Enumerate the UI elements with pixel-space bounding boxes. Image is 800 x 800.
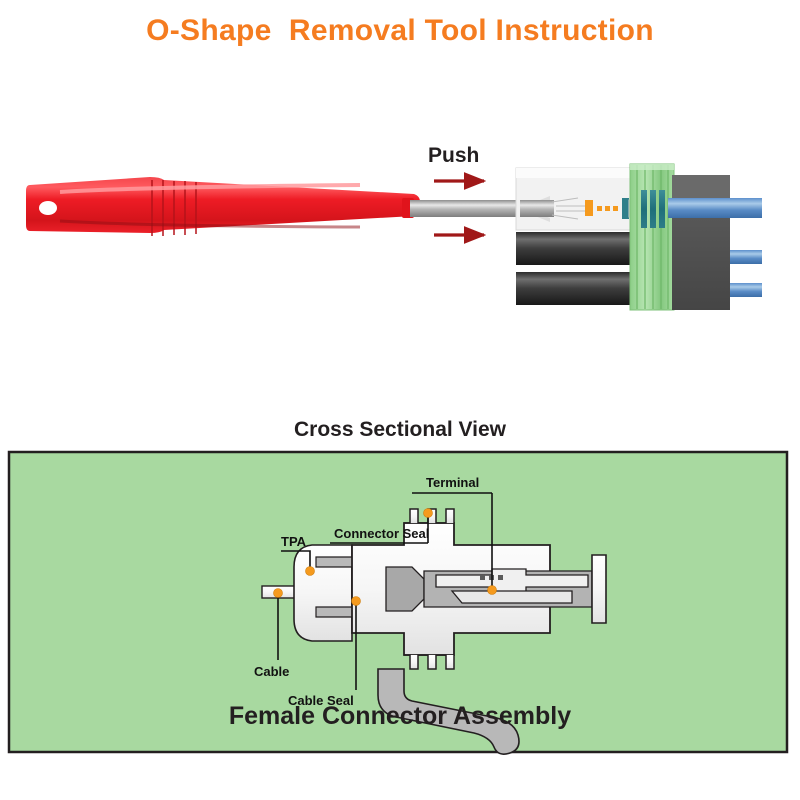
tool-handle — [26, 177, 420, 236]
connector-housing-translucent — [516, 168, 643, 230]
wire-pin-3 — [730, 283, 762, 297]
cross-section-heading: Cross Sectional View — [0, 418, 800, 442]
wire-pin-1 — [668, 198, 762, 218]
terminal-lock-dots — [597, 206, 618, 211]
tool-shaft — [410, 200, 522, 217]
label-tpa: TPA — [281, 534, 307, 549]
tool-figure: Push — [0, 120, 800, 410]
label-cable: Cable — [254, 664, 289, 679]
connector-cables — [516, 232, 644, 305]
handle-hanging-hole — [39, 201, 57, 215]
assembly-caption: Female Connector Assembly — [0, 702, 800, 731]
page-title: O-Shape Removal Tool Instruction — [0, 14, 800, 48]
connector-body-block — [672, 175, 730, 310]
connector-seal-part-lower — [404, 655, 454, 669]
push-label: Push — [428, 144, 479, 167]
terminal-lock-marker — [585, 200, 593, 216]
label-terminal: Terminal — [426, 475, 479, 490]
connector-seal-block — [630, 164, 674, 310]
seal-rings — [641, 190, 665, 228]
wire-pin-2 — [730, 250, 762, 264]
label-connector-seal: Connector Seal — [334, 526, 429, 541]
